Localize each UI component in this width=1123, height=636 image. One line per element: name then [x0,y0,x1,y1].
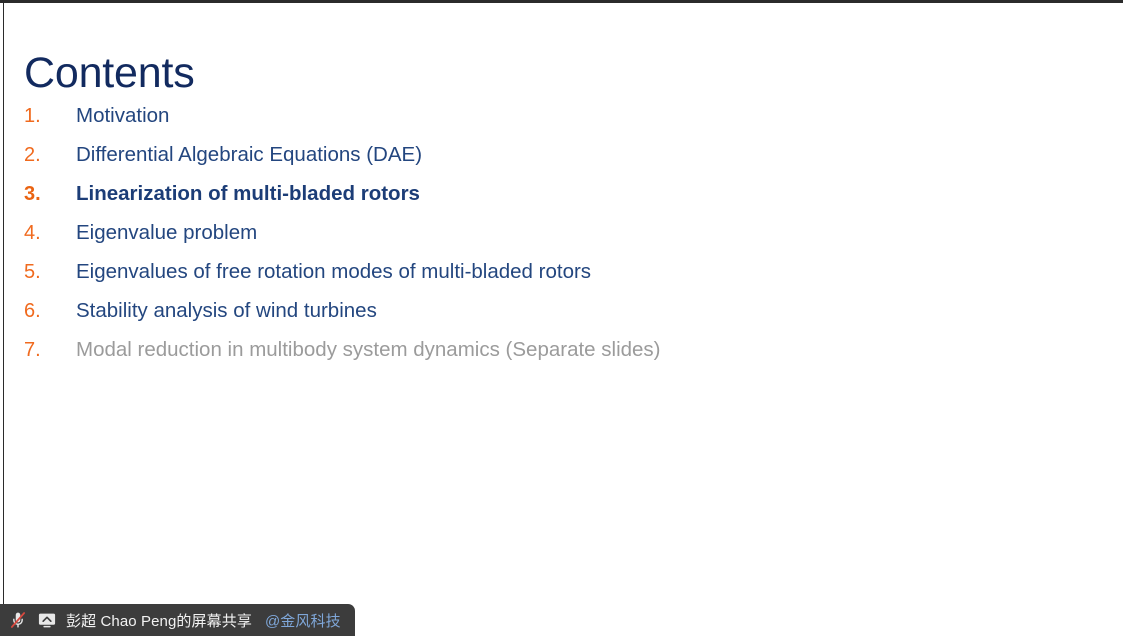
list-item[interactable]: 5. Eigenvalues of free rotation modes of… [24,260,1084,299]
window-frame-top-edge [0,0,1123,3]
list-item-number: 6. [24,300,76,323]
microphone-muted-icon[interactable] [8,610,28,630]
presentation-slide: Contents 1. Motivation 2. Differential A… [0,0,1123,636]
contents-list: 1. Motivation 2. Differential Algebraic … [24,104,1084,377]
list-item-label: Eigenvalues of free rotation modes of mu… [76,260,591,284]
list-item-number: 4. [24,222,76,245]
list-item[interactable]: 4. Eigenvalue problem [24,221,1084,260]
page-title: Contents [24,51,195,96]
list-item-number: 2. [24,144,76,167]
list-item[interactable]: 2. Differential Algebraic Equations (DAE… [24,143,1084,182]
list-item-number: 1. [24,105,76,128]
window-frame-left-edge [3,0,4,636]
list-item[interactable]: 1. Motivation [24,104,1084,143]
screen-share-status-bar[interactable]: 彭超 Chao Peng的屏幕共享 @金风科技 [0,604,355,636]
list-item-label: Motivation [76,104,169,128]
share-organization-label: @金风科技 [265,610,341,631]
list-item-number: 7. [24,339,76,362]
list-item-current[interactable]: 3. Linearization of multi-bladed rotors [24,182,1084,221]
list-item-label: Linearization of multi-bladed rotors [76,182,420,206]
list-item-label: Stability analysis of wind turbines [76,299,377,323]
list-item-number: 3. [24,183,76,206]
list-item-number: 5. [24,261,76,284]
list-item-label: Differential Algebraic Equations (DAE) [76,143,422,167]
list-item-label: Modal reduction in multibody system dyna… [76,338,661,362]
list-item-dimmed[interactable]: 7. Modal reduction in multibody system d… [24,338,1084,377]
list-item[interactable]: 6. Stability analysis of wind turbines [24,299,1084,338]
screen-share-icon[interactable] [37,610,57,630]
share-owner-label: 彭超 Chao Peng的屏幕共享 [66,610,252,631]
list-item-label: Eigenvalue problem [76,221,257,245]
